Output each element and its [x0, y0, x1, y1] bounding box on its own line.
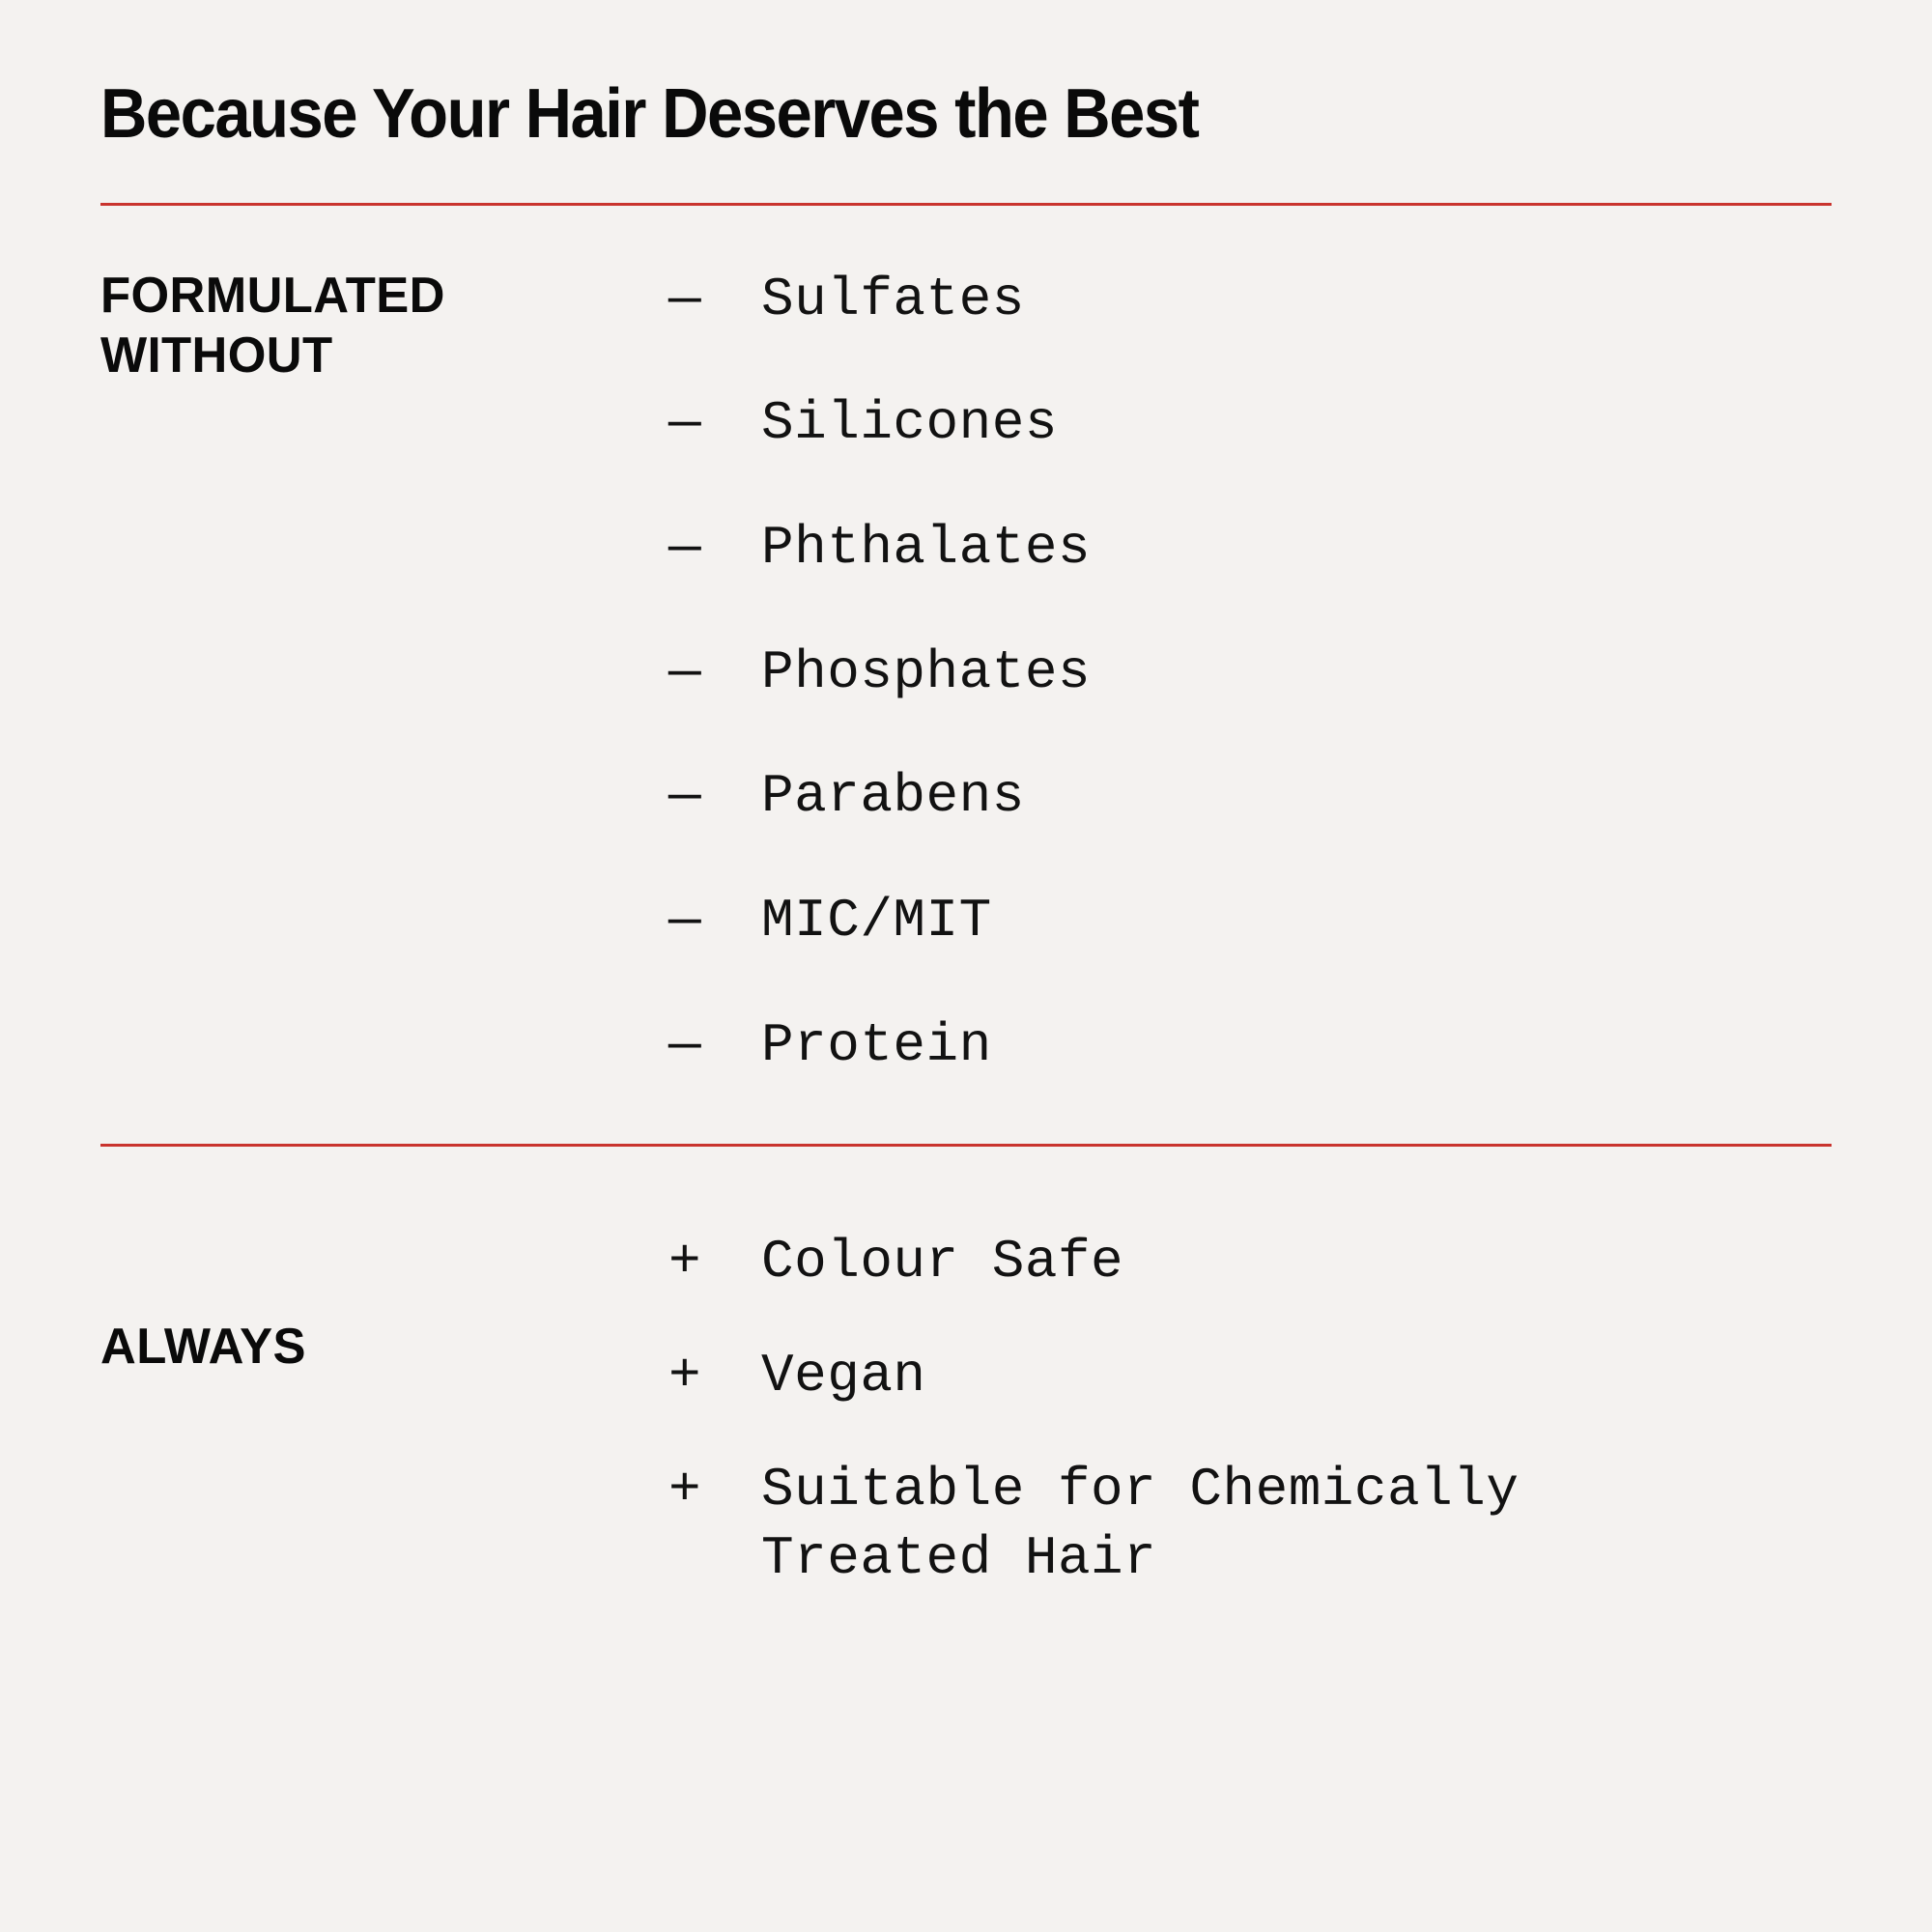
plus-icon: +	[668, 1456, 761, 1525]
section-label-always: Always	[100, 1228, 657, 1377]
dash-icon: —	[668, 266, 761, 335]
list-item: — Silicones	[668, 389, 1832, 459]
list-item-label: Protein	[761, 1011, 1737, 1081]
dash-icon: —	[668, 389, 761, 459]
list-item: — Phthalates	[668, 514, 1832, 583]
list-item: + Colour Safe	[668, 1228, 1832, 1297]
always-list: + Colour Safe + Vegan + Suitable for Che…	[668, 1228, 1832, 1594]
list-item: — MIC/MIT	[668, 887, 1832, 956]
list-item-label: Parabens	[761, 762, 1737, 832]
list-item-label: MIC/MIT	[761, 887, 1737, 956]
list-item-label: Phosphates	[761, 639, 1737, 708]
list-item-label: Sulfates	[761, 266, 1737, 335]
section-label-formulated-without: Formulated Without	[100, 266, 657, 386]
list-item-label: Phthalates	[761, 514, 1737, 583]
plus-icon: +	[668, 1228, 761, 1297]
page-title: Because Your Hair Deserves the Best	[100, 0, 1711, 153]
section-formulated-without: Formulated Without — Sulfates — Silicone…	[100, 206, 1832, 1145]
list-item: — Protein	[668, 1011, 1832, 1081]
list-item: + Vegan	[668, 1342, 1832, 1411]
plus-icon: +	[668, 1342, 761, 1411]
list-item: — Phosphates	[668, 639, 1832, 708]
list-item-label: Colour Safe	[761, 1228, 1737, 1297]
list-item-label: Vegan	[761, 1342, 1737, 1411]
dash-icon: —	[668, 887, 761, 956]
list-item: — Parabens	[668, 762, 1832, 832]
list-item-label: Suitable for Chemically Treated Hair	[761, 1456, 1737, 1594]
dash-icon: —	[668, 1011, 761, 1081]
list-item-label: Silicones	[761, 389, 1737, 459]
dash-icon: —	[668, 639, 761, 708]
dash-icon: —	[668, 762, 761, 832]
list-item: + Suitable for Chemically Treated Hair	[668, 1456, 1832, 1594]
benefits-panel: Because Your Hair Deserves the Best Form…	[0, 0, 1932, 1932]
formulated-without-list: — Sulfates — Silicones — Phthalates — Ph…	[668, 266, 1832, 1081]
section-always: Always + Colour Safe + Vegan + Suitable …	[100, 1147, 1832, 1594]
dash-icon: —	[668, 514, 761, 583]
list-item: — Sulfates	[668, 266, 1832, 335]
